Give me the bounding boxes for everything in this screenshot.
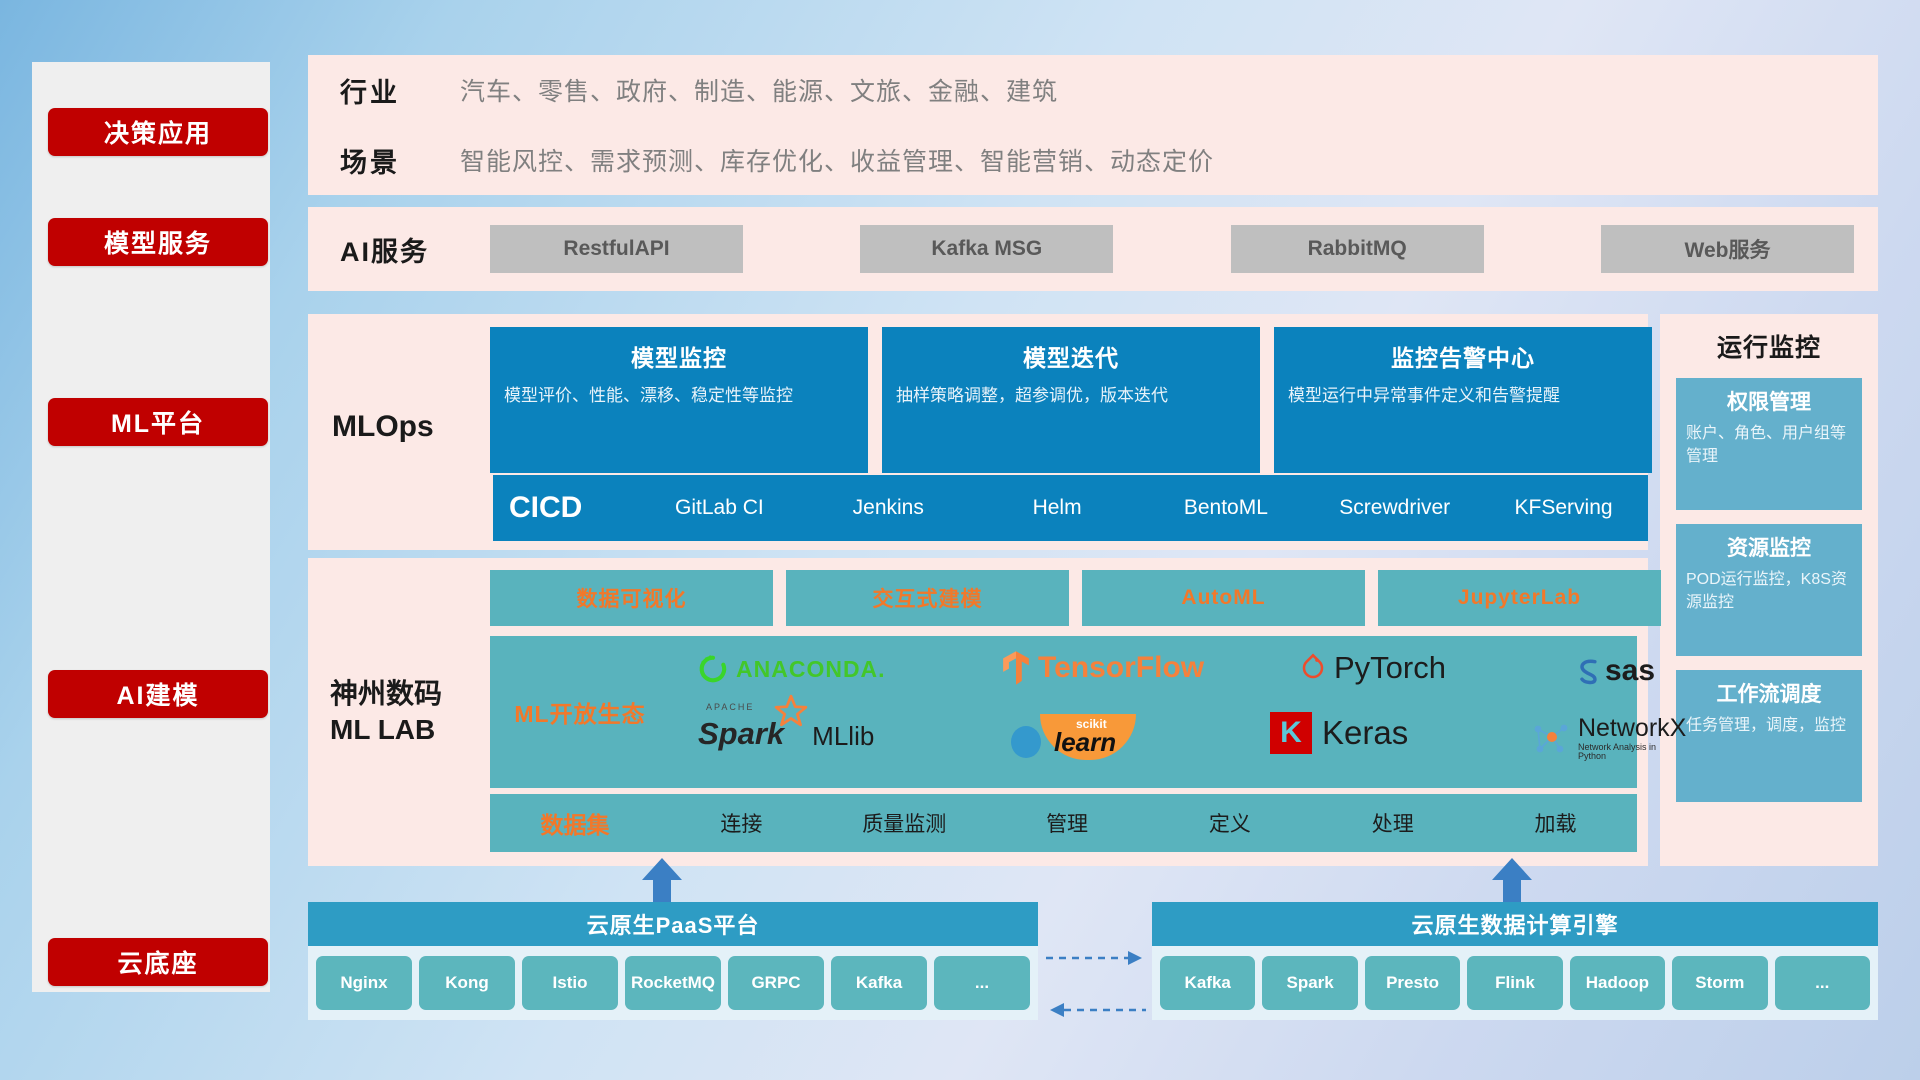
sas-logo: sas [1575, 654, 1655, 688]
dataset-strip: 数据集 连接 质量监测 管理 定义 处理 加载 [490, 794, 1637, 852]
cloud-paas-chips: Nginx Kong Istio RocketMQ GRPC Kafka ... [308, 946, 1038, 1020]
mlops-card-alert-center[interactable]: 监控告警中心 模型运行中异常事件定义和告警提醒 [1274, 327, 1652, 473]
dataset-item-load[interactable]: 加载 [1474, 808, 1637, 838]
ai-service-cell-restfulapi[interactable]: RestfulAPI [490, 225, 743, 273]
mllib-logo-text: MLlib [812, 721, 874, 752]
cicd-item-helm[interactable]: Helm [973, 496, 1142, 520]
mlops-card-model-iteration[interactable]: 模型迭代 抽样策略调整，超参调优，版本迭代 [882, 327, 1260, 473]
ml-ecosystem-strip: ML开放生态 ANACONDA. [490, 636, 1637, 788]
card-title: 模型监控 [504, 339, 854, 373]
cicd-item-jenkins[interactable]: Jenkins [804, 496, 973, 520]
tool-automl[interactable]: AutoML [1082, 570, 1365, 626]
card-desc: 模型运行中异常事件定义和告警提醒 [1288, 383, 1638, 409]
networkx-logo-text: NetworkX [1578, 716, 1686, 741]
ops-monitor-title: 运行监控 [1660, 314, 1878, 364]
anaconda-logo-text: ANACONDA. [736, 656, 886, 683]
networkx-logo: NetworkX Network Analysis in Python [1530, 716, 1686, 761]
ai-service-cell-web-service[interactable]: Web服务 [1601, 225, 1854, 273]
dataset-key: 数据集 [490, 806, 660, 840]
sas-logo-text: sas [1605, 654, 1655, 688]
tool-list: 数据可视化 交互式建模 AutoML JupyterLab [490, 570, 1661, 626]
cloud-data-engine-chips: Kafka Spark Presto Flink Hadoop Storm ..… [1152, 946, 1878, 1020]
industry-row: 行业 汽车、零售、政府、制造、能源、文旅、金融、建筑 [308, 55, 1878, 125]
cicd-title: CICD [509, 491, 635, 525]
tool-data-visualization[interactable]: 数据可视化 [490, 570, 773, 626]
card-desc: 模型评价、性能、漂移、稳定性等监控 [504, 383, 854, 409]
cloud-paas-title: 云原生PaaS平台 [308, 902, 1038, 946]
ml-lab-key-line1: 神州数码 [330, 676, 500, 712]
card-desc: 任务管理，调度，监控 [1686, 714, 1852, 737]
rail-item-label: 云底座 [117, 944, 198, 980]
cloud-paas-block: 云原生PaaS平台 Nginx Kong Istio RocketMQ GRPC… [308, 902, 1038, 1020]
pytorch-logo: PyTorch [1300, 650, 1446, 686]
ops-card-workflow[interactable]: 工作流调度 任务管理，调度，监控 [1676, 670, 1862, 802]
pytorch-mark-icon [1300, 653, 1326, 683]
industry-value: 汽车、零售、政府、制造、能源、文旅、金融、建筑 [460, 72, 1058, 108]
chip-presto[interactable]: Presto [1365, 956, 1460, 1010]
ai-modeling-panel: 神州数码 ML LAB 数据可视化 交互式建模 AutoML JupyterLa… [308, 558, 1648, 866]
chip-kafka[interactable]: Kafka [831, 956, 927, 1010]
card-desc: 账户、角色、用户组等管理 [1686, 422, 1852, 468]
dashed-arrow-left-icon [1046, 1000, 1146, 1020]
cicd-item-bentoml[interactable]: BentoML [1141, 496, 1310, 520]
card-title: 监控告警中心 [1288, 339, 1638, 373]
mlops-card-list: 模型监控 模型评价、性能、漂移、稳定性等监控 模型迭代 抽样策略调整，超参调优，… [490, 327, 1652, 473]
dashed-arrow-right-icon [1046, 948, 1146, 968]
tensorflow-logo-text: TensorFlow [1038, 651, 1204, 685]
cicd-item-gitlab-ci[interactable]: GitLab CI [635, 496, 804, 520]
cicd-item-screwdriver[interactable]: Screwdriver [1310, 496, 1479, 520]
rail-item-cloud-base[interactable]: 云底座 [48, 938, 268, 986]
chip-kafka[interactable]: Kafka [1160, 956, 1255, 1010]
rail-item-label: AI建模 [116, 676, 199, 712]
ops-monitor-panel: 运行监控 权限管理 账户、角色、用户组等管理 资源监控 POD运行监控，K8S资… [1660, 314, 1878, 866]
ml-lab-key: 神州数码 ML LAB [330, 676, 500, 749]
anaconda-mark-icon [698, 654, 728, 684]
scenario-key: 场景 [340, 141, 460, 180]
card-title: 资源监控 [1686, 532, 1852, 562]
networkx-logo-sub: Network Analysis in Python [1578, 743, 1686, 761]
chip-grpc[interactable]: GRPC [728, 956, 824, 1010]
spark-mllib-logo: APACHE Spark MLlib [698, 716, 874, 752]
card-title: 权限管理 [1686, 386, 1852, 416]
chip-rocketmq[interactable]: RocketMQ [625, 956, 721, 1010]
ops-card-resource[interactable]: 资源监控 POD运行监控，K8S资源监控 [1676, 524, 1862, 656]
ai-service-cell-rabbitmq[interactable]: RabbitMQ [1231, 225, 1484, 273]
chip-hadoop[interactable]: Hadoop [1570, 956, 1665, 1010]
diagram-canvas: 决策应用 模型服务 ML平台 AI建模 云底座 行业 汽车、零售、政府、制造、能… [0, 0, 1920, 1080]
keras-logo: K Keras [1270, 712, 1408, 754]
ai-service-panel: AI服务 RestfulAPI Kafka MSG RabbitMQ Web服务 [308, 207, 1878, 291]
networkx-mark-icon [1530, 719, 1572, 759]
chip-spark[interactable]: Spark [1262, 956, 1357, 1010]
mlops-key: MLOps [332, 410, 492, 444]
chip-more[interactable]: ... [1775, 956, 1870, 1010]
card-title: 工作流调度 [1686, 678, 1852, 708]
rail-item-decision-app[interactable]: 决策应用 [48, 108, 268, 156]
ml-ecosystem-logos: ANACONDA. TensorFlow PyTorch [670, 636, 1637, 788]
rail-item-label: 模型服务 [104, 224, 212, 260]
rail-item-label: 决策应用 [104, 114, 212, 150]
anaconda-logo: ANACONDA. [698, 654, 886, 684]
chip-storm[interactable]: Storm [1672, 956, 1767, 1010]
rail-item-ai-modeling[interactable]: AI建模 [48, 670, 268, 718]
cicd-item-kfserving[interactable]: KFServing [1479, 496, 1648, 520]
cicd-strip: CICD GitLab CI Jenkins Helm BentoML Scre… [493, 475, 1648, 541]
spark-logo-text: Spark [698, 716, 784, 751]
keras-mark-letter: K [1280, 716, 1302, 750]
ops-card-permission[interactable]: 权限管理 账户、角色、用户组等管理 [1676, 378, 1862, 510]
ml-ecosystem-key: ML开放生态 [490, 695, 670, 729]
card-desc: 抽样策略调整，超参调优，版本迭代 [896, 383, 1246, 409]
mlops-card-model-monitoring[interactable]: 模型监控 模型评价、性能、漂移、稳定性等监控 [490, 327, 868, 473]
chip-istio[interactable]: Istio [522, 956, 618, 1010]
application-panel: 行业 汽车、零售、政府、制造、能源、文旅、金融、建筑 场景 智能风控、需求预测、… [308, 55, 1878, 195]
tensorflow-logo: TensorFlow [1000, 650, 1204, 686]
keras-mark-icon: K [1270, 712, 1312, 754]
ai-service-key: AI服务 [340, 230, 490, 269]
scenario-value: 智能风控、需求预测、库存优化、收益管理、智能营销、动态定价 [460, 142, 1214, 178]
rail-item-label: ML平台 [111, 404, 205, 440]
dataset-item-define[interactable]: 定义 [1148, 808, 1311, 838]
industry-key: 行业 [340, 71, 460, 110]
ml-lab-key-line2: ML LAB [330, 712, 500, 748]
sas-mark-icon [1575, 657, 1603, 685]
chip-nginx[interactable]: Nginx [316, 956, 412, 1010]
left-label-rail [32, 62, 270, 992]
card-desc: POD运行监控，K8S资源监控 [1686, 568, 1852, 614]
dataset-item-process[interactable]: 处理 [1311, 808, 1474, 838]
dataset-item-manage[interactable]: 管理 [986, 808, 1149, 838]
dataset-item-quality-monitor[interactable]: 质量监测 [823, 808, 986, 838]
spark-logo-sub: APACHE [706, 702, 754, 712]
ai-service-cells: RestfulAPI Kafka MSG RabbitMQ Web服务 [490, 225, 1854, 273]
cloud-data-engine-block: 云原生数据计算引擎 Kafka Spark Presto Flink Hadoo… [1152, 902, 1878, 1020]
chip-flink[interactable]: Flink [1467, 956, 1562, 1010]
card-title: 模型迭代 [896, 339, 1246, 373]
tensorflow-mark-icon [1000, 650, 1032, 686]
spark-star-icon [774, 694, 808, 728]
keras-logo-text: Keras [1322, 714, 1408, 752]
tool-interactive-modeling[interactable]: 交互式建模 [786, 570, 1069, 626]
chip-kong[interactable]: Kong [419, 956, 515, 1010]
dataset-item-connect[interactable]: 连接 [660, 808, 823, 838]
scenario-row: 场景 智能风控、需求预测、库存优化、收益管理、智能营销、动态定价 [308, 125, 1878, 195]
ai-service-cell-kafka-msg[interactable]: Kafka MSG [860, 225, 1113, 273]
tool-jupyterlab[interactable]: JupyterLab [1378, 570, 1661, 626]
chip-more[interactable]: ... [934, 956, 1030, 1010]
cloud-data-engine-title: 云原生数据计算引擎 [1152, 902, 1878, 946]
learn-logo-text: learn [1054, 727, 1116, 758]
rail-item-model-service[interactable]: 模型服务 [48, 218, 268, 266]
rail-item-ml-platform[interactable]: ML平台 [48, 398, 268, 446]
pytorch-logo-text: PyTorch [1334, 650, 1446, 686]
